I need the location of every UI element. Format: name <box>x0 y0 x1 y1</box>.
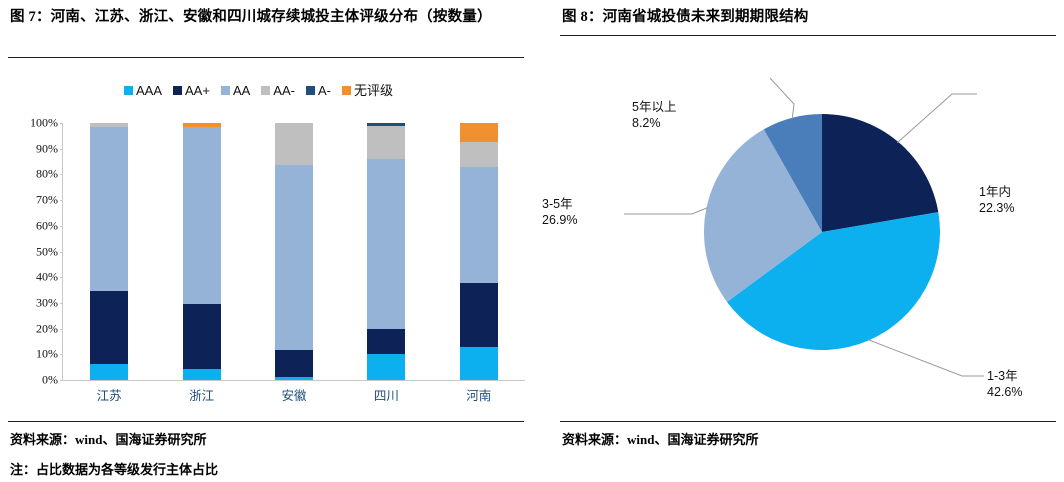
pie-label-value: 42.6% <box>987 384 1022 400</box>
x-axis-label-河南: 河南 <box>433 385 525 404</box>
y-axis-tick-mark <box>60 149 63 150</box>
figure-7-note: 注：占比数据为各等级发行主体占比 <box>10 459 218 478</box>
y-axis-tick-mark <box>60 380 63 381</box>
bar-segment-河南-AAA[interactable] <box>460 347 498 380</box>
y-axis-tick-label: 40% <box>36 270 58 285</box>
pie-leader-line-1-3年 <box>868 340 984 377</box>
figure-8-panel: 图 8：河南省城投债未来到期期限结构 1年内22.3%1-3年42.6%3-5年… <box>532 0 1064 482</box>
pie-label-name: 3-5年 <box>542 196 577 212</box>
figure-page: 图 7：河南、江苏、浙江、安徽和四川城存续城投主体评级分布（按数量） AAAAA… <box>0 0 1064 482</box>
bar-segment-江苏-AAA[interactable] <box>90 364 128 380</box>
pie-slice-1年内[interactable] <box>822 114 938 232</box>
bar-segment-安徽-AA-[interactable] <box>275 123 313 165</box>
bar-segment-四川-A-[interactable] <box>367 123 405 126</box>
bar-segment-河南-AA-[interactable] <box>460 142 498 168</box>
bar-segment-四川-AA-[interactable] <box>367 126 405 159</box>
y-axis-tick-mark <box>60 174 63 175</box>
figure-8-top-divider <box>560 35 1056 36</box>
bar-group-浙江[interactable] <box>183 123 221 380</box>
y-axis-tick-label: 70% <box>36 193 58 208</box>
bar-group-安徽[interactable] <box>275 123 313 380</box>
bar-segment-江苏-AA-[interactable] <box>90 123 128 127</box>
y-axis-tick-label: 60% <box>36 218 58 233</box>
figure-8-bottom-divider <box>560 421 1056 422</box>
bar-segment-河南-无评级[interactable] <box>460 123 498 142</box>
y-axis-tick-label: 50% <box>36 244 58 259</box>
pie-svg <box>532 46 1064 416</box>
bar-segment-江苏-AA+[interactable] <box>90 291 128 364</box>
pie-label-name: 1年内 <box>979 184 1014 200</box>
pie-label-name: 1-3年 <box>987 368 1022 384</box>
pie-label-1-3年: 1-3年42.6% <box>987 368 1022 400</box>
rating-distribution-bar-chart: 0%10%20%30%40%50%60%70%80%90%100%江苏浙江安徽四… <box>0 0 532 420</box>
y-axis-tick-mark <box>60 277 63 278</box>
bar-segment-四川-AA[interactable] <box>367 159 405 329</box>
bar-segment-安徽-AA+[interactable] <box>275 350 313 377</box>
bar-segment-江苏-AA[interactable] <box>90 127 128 291</box>
x-axis-label-浙江: 浙江 <box>156 385 248 404</box>
bar-segment-浙江-无评级[interactable] <box>183 123 221 127</box>
pie-label-value: 22.3% <box>979 200 1014 216</box>
figure-7-source: 资料来源：wind、国海证券研究所 <box>10 429 206 448</box>
y-axis-tick-label: 80% <box>36 167 58 182</box>
maturity-structure-pie-chart: 1年内22.3%1-3年42.6%3-5年26.9%5年以上8.2% <box>532 46 1064 416</box>
y-axis-tick-label: 10% <box>36 347 58 362</box>
bar-segment-浙江-AA[interactable] <box>183 127 221 304</box>
pie-label-1年内: 1年内22.3% <box>979 184 1014 216</box>
bar-segment-河南-AA+[interactable] <box>460 283 498 347</box>
figure-8-title: 图 8：河南省城投债未来到期期限结构 <box>562 6 1057 28</box>
y-axis-tick-label: 30% <box>36 295 58 310</box>
pie-label-5年以上: 5年以上8.2% <box>632 99 676 131</box>
bar-segment-四川-AAA[interactable] <box>367 354 405 380</box>
y-axis-tick-mark <box>60 226 63 227</box>
bar-plot-area: 0%10%20%30%40%50%60%70%80%90%100%江苏浙江安徽四… <box>62 123 525 381</box>
bar-segment-浙江-AAA[interactable] <box>183 369 221 380</box>
x-axis-label-四川: 四川 <box>340 385 432 404</box>
y-axis-tick-mark <box>60 252 63 253</box>
bar-group-河南[interactable] <box>460 123 498 380</box>
pie-leader-line-1年内 <box>897 94 977 143</box>
pie-leader-line-5年以上 <box>770 78 794 119</box>
bar-segment-安徽-AAA[interactable] <box>275 377 313 380</box>
figure-7-bottom-divider <box>8 421 524 422</box>
bar-segment-安徽-AA[interactable] <box>275 165 313 350</box>
figure-8-source: 资料来源：wind、国海证券研究所 <box>562 429 758 448</box>
pie-label-3-5年: 3-5年26.9% <box>542 196 577 228</box>
y-axis-tick-mark <box>60 123 63 124</box>
pie-label-value: 8.2% <box>632 115 676 131</box>
bar-segment-河南-AA[interactable] <box>460 167 498 283</box>
pie-label-name: 5年以上 <box>632 99 676 115</box>
figure-7-panel: 图 7：河南、江苏、浙江、安徽和四川城存续城投主体评级分布（按数量） AAAAA… <box>0 0 532 482</box>
y-axis-tick-label: 0% <box>42 373 58 388</box>
y-axis-tick-label: 90% <box>36 141 58 156</box>
bar-group-江苏[interactable] <box>90 123 128 380</box>
pie-leader-line-3-5年 <box>624 208 708 214</box>
x-axis-label-江苏: 江苏 <box>63 385 155 404</box>
y-axis-tick-mark <box>60 303 63 304</box>
bar-segment-浙江-AA+[interactable] <box>183 304 221 369</box>
pie-label-value: 26.9% <box>542 212 577 228</box>
bar-segment-四川-AA+[interactable] <box>367 329 405 354</box>
y-axis-tick-label: 20% <box>36 321 58 336</box>
y-axis-tick-mark <box>60 200 63 201</box>
y-axis-tick-label: 100% <box>30 116 58 131</box>
y-axis-tick-mark <box>60 354 63 355</box>
x-axis-label-安徽: 安徽 <box>248 385 340 404</box>
bar-group-四川[interactable] <box>367 123 405 380</box>
y-axis-tick-mark <box>60 329 63 330</box>
